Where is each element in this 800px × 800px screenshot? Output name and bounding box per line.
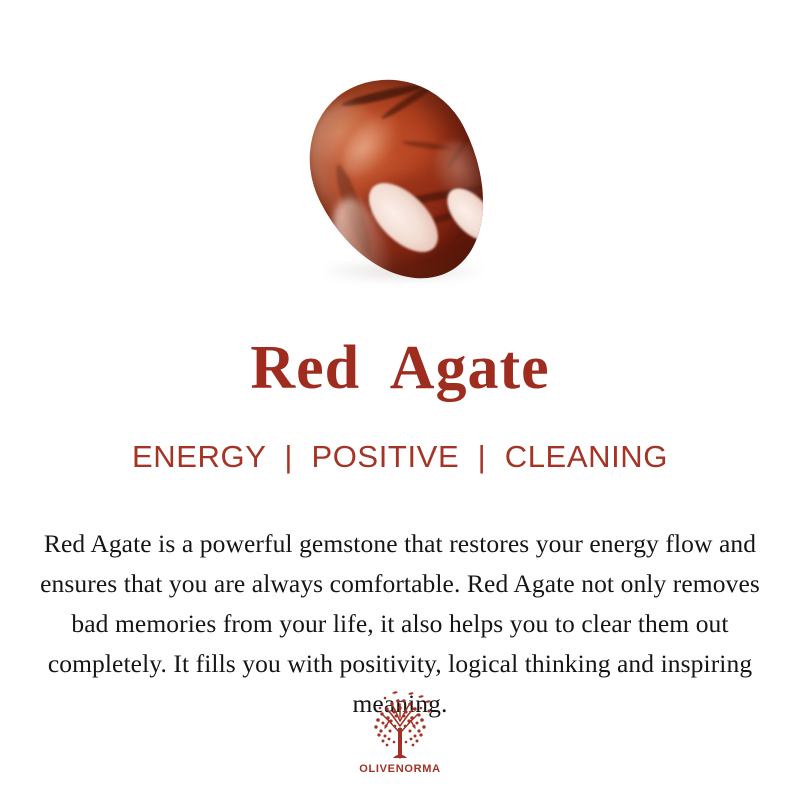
- page-title: Red Agate: [0, 336, 800, 401]
- stone-vein: [331, 162, 377, 258]
- stone-pale-edge: [321, 191, 411, 308]
- brand-logo: OLIVENORMA: [350, 688, 450, 788]
- red-agate-stone: [255, 36, 545, 324]
- gemstone-image: [0, 0, 800, 320]
- stone-vein: [341, 82, 423, 109]
- stone-vein: [379, 80, 438, 122]
- stone-color-band: [322, 135, 519, 301]
- stone-inclusion: [357, 171, 450, 264]
- brand-name: OLIVENORMA: [350, 763, 450, 775]
- stone-specular-highlight: [424, 133, 496, 213]
- stone-vein: [366, 183, 485, 214]
- stone-rim-light: [285, 89, 432, 263]
- gemstone-figure: [291, 74, 509, 286]
- stone-vein: [402, 139, 450, 151]
- product-info-card: Red Agate ENERGY | POSITIVE | CLEANING R…: [0, 0, 800, 800]
- stone-specular-highlight: [332, 104, 410, 187]
- tree-icon: [361, 688, 439, 762]
- stone-vein: [402, 195, 509, 234]
- keyword-line: ENERGY | POSITIVE | CLEANING: [0, 440, 800, 474]
- stone-vein: [446, 138, 470, 169]
- stone-body: [281, 51, 520, 310]
- stone-inclusion: [438, 180, 504, 249]
